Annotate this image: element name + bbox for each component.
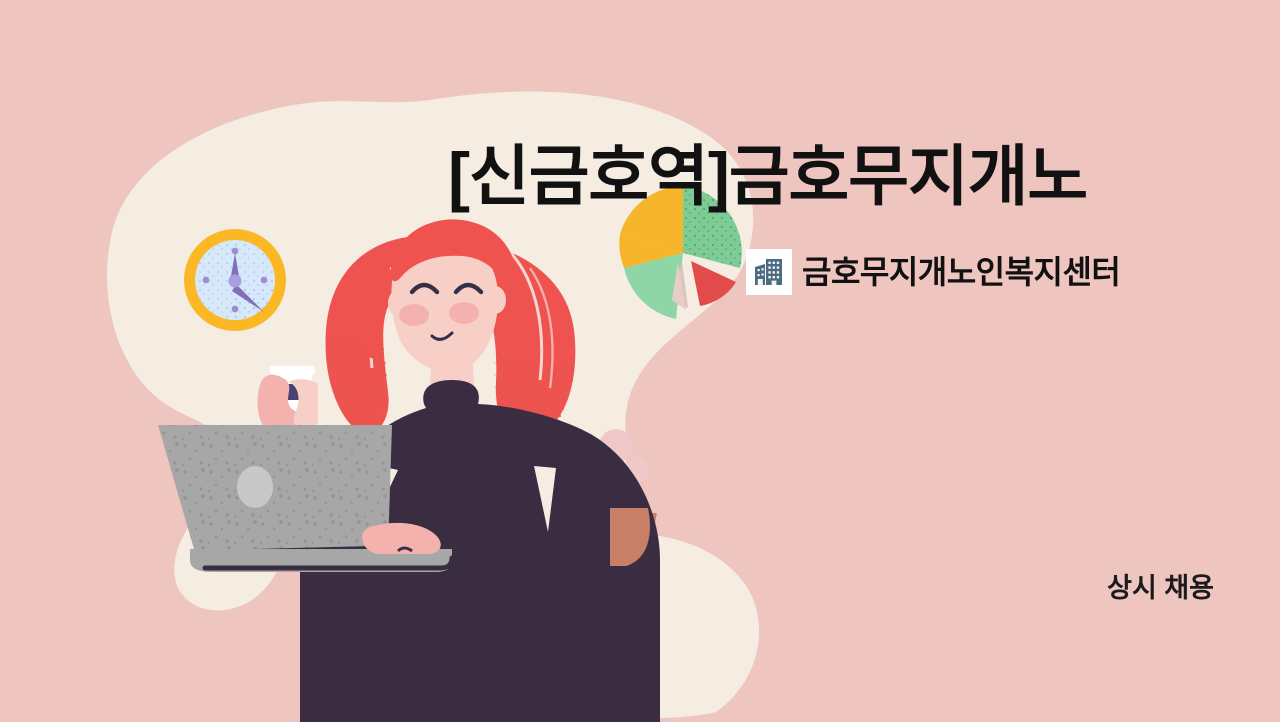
job-title: [신금호역]금호무지개노 — [448, 134, 1164, 218]
hiring-type-badge: 상시 채용 — [1107, 566, 1214, 605]
illustration-canvas — [0, 0, 1280, 722]
office-building-icon — [746, 249, 792, 295]
job-poster-canvas: [신금호역]금호무지개노 — [0, 0, 1280, 722]
company-name: 금호무지개노인복지센터 — [802, 249, 1120, 295]
company-row: 금호무지개노인복지센터 — [746, 248, 1120, 296]
